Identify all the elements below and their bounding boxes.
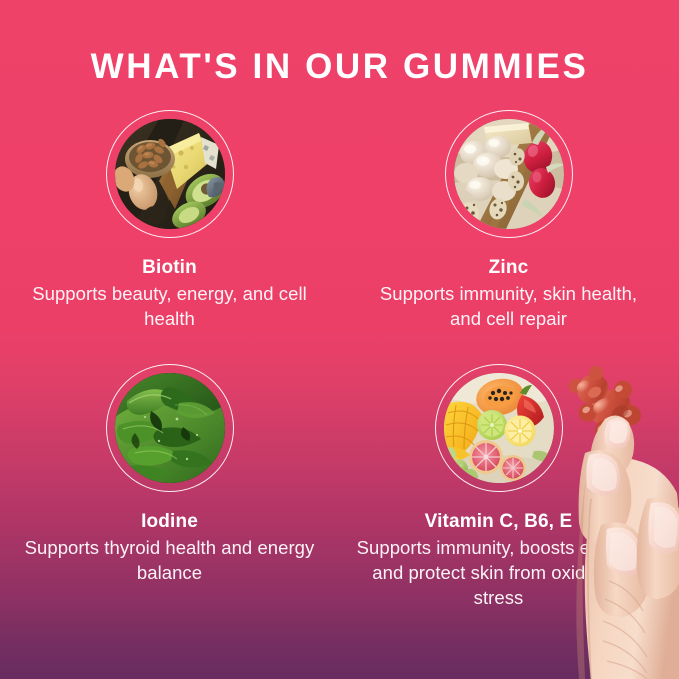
- ingredient-image-ring: [445, 110, 573, 238]
- ingredient-card-biotin: Biotin Supports beauty, energy, and cell…: [0, 110, 339, 331]
- zinc-foods-photo: [454, 119, 564, 229]
- biotin-foods-photo: [115, 119, 225, 229]
- vitamin-foods-photo: [444, 373, 554, 483]
- ingredient-description: Supports thyroid health and energy balan…: [0, 535, 339, 585]
- ingredient-description: Supports immunity, boosts energy, and pr…: [329, 535, 668, 610]
- poster-canvas: WHAT'S IN OUR GUMMIES: [0, 0, 679, 679]
- ingredient-name: Biotin: [0, 256, 339, 279]
- ingredient-card-vitamin: Vitamin C, B6, E Supports immunity, boos…: [329, 364, 668, 610]
- ingredient-description: Supports immunity, skin health, and cell…: [339, 281, 678, 331]
- ingredient-image-ring: [435, 364, 563, 492]
- iodine-foods-photo: [115, 373, 225, 483]
- ingredient-name: Iodine: [0, 510, 339, 533]
- ingredient-card-iodine: Iodine Supports thyroid health and energ…: [0, 364, 339, 585]
- ingredient-image-ring: [106, 364, 234, 492]
- ingredient-name: Vitamin C, B6, E: [329, 510, 668, 533]
- ingredient-description: Supports beauty, energy, and cell health: [0, 281, 339, 331]
- ingredient-name: Zinc: [339, 256, 678, 279]
- page-title: WHAT'S IN OUR GUMMIES: [0, 47, 679, 87]
- ingredient-image-ring: [106, 110, 234, 238]
- ingredient-card-zinc: Zinc Supports immunity, skin health, and…: [339, 110, 678, 331]
